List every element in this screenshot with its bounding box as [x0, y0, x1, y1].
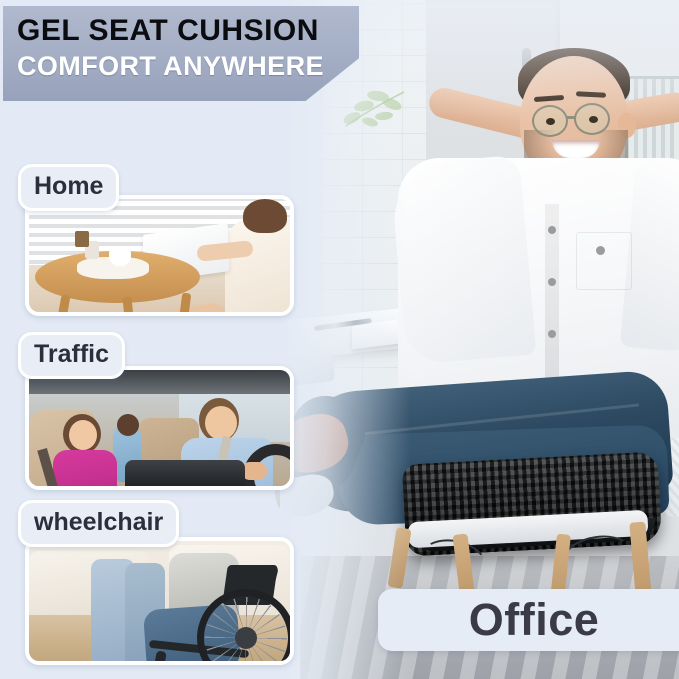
use-case-label-office-box: Office	[378, 589, 679, 651]
plant-icon	[338, 78, 410, 138]
use-case-card-traffic[interactable]: Traffic	[18, 332, 294, 490]
shirt-sleeve-left	[390, 155, 537, 366]
home-woman-head	[243, 199, 287, 233]
banner-subheadline: COMFORT ANYWHERE	[17, 50, 349, 84]
use-case-card-home[interactable]: Home	[18, 164, 294, 316]
home-pen-holder	[75, 231, 89, 247]
use-case-card-wheelchair[interactable]: wheelchair	[18, 500, 294, 665]
use-case-image-home	[25, 195, 294, 316]
use-case-image-wheelchair	[25, 537, 294, 665]
use-case-label-wheelchair: wheelchair	[18, 500, 179, 547]
traffic-man-face	[205, 406, 237, 440]
use-case-label-home: Home	[18, 164, 119, 211]
headline-banner: GEL SEAT CUHSION COMFORT ANYWHERE	[3, 6, 359, 101]
traffic-woman-face	[69, 420, 97, 450]
shirt-pocket-button	[596, 246, 605, 255]
man-eye	[589, 116, 598, 123]
product-advertisement-image: GEL SEAT CUHSION COMFORT ANYWHERE	[0, 0, 679, 679]
traffic-child-head	[117, 414, 139, 436]
use-case-label-traffic: Traffic	[18, 332, 125, 379]
shirt-pocket	[576, 232, 632, 290]
traffic-woman-magenta-top	[53, 450, 117, 490]
shirt-button	[548, 330, 556, 338]
use-case-image-traffic	[25, 366, 294, 490]
wheelchair-hub	[235, 627, 257, 649]
shirt-button	[548, 278, 556, 286]
man-eye	[546, 118, 555, 125]
glasses-bridge	[567, 116, 576, 119]
banner-headline: GEL SEAT CUHSION	[17, 12, 349, 50]
shirt-button	[548, 226, 556, 234]
use-case-label-office: Office	[469, 594, 600, 646]
car-center-console	[125, 460, 245, 486]
